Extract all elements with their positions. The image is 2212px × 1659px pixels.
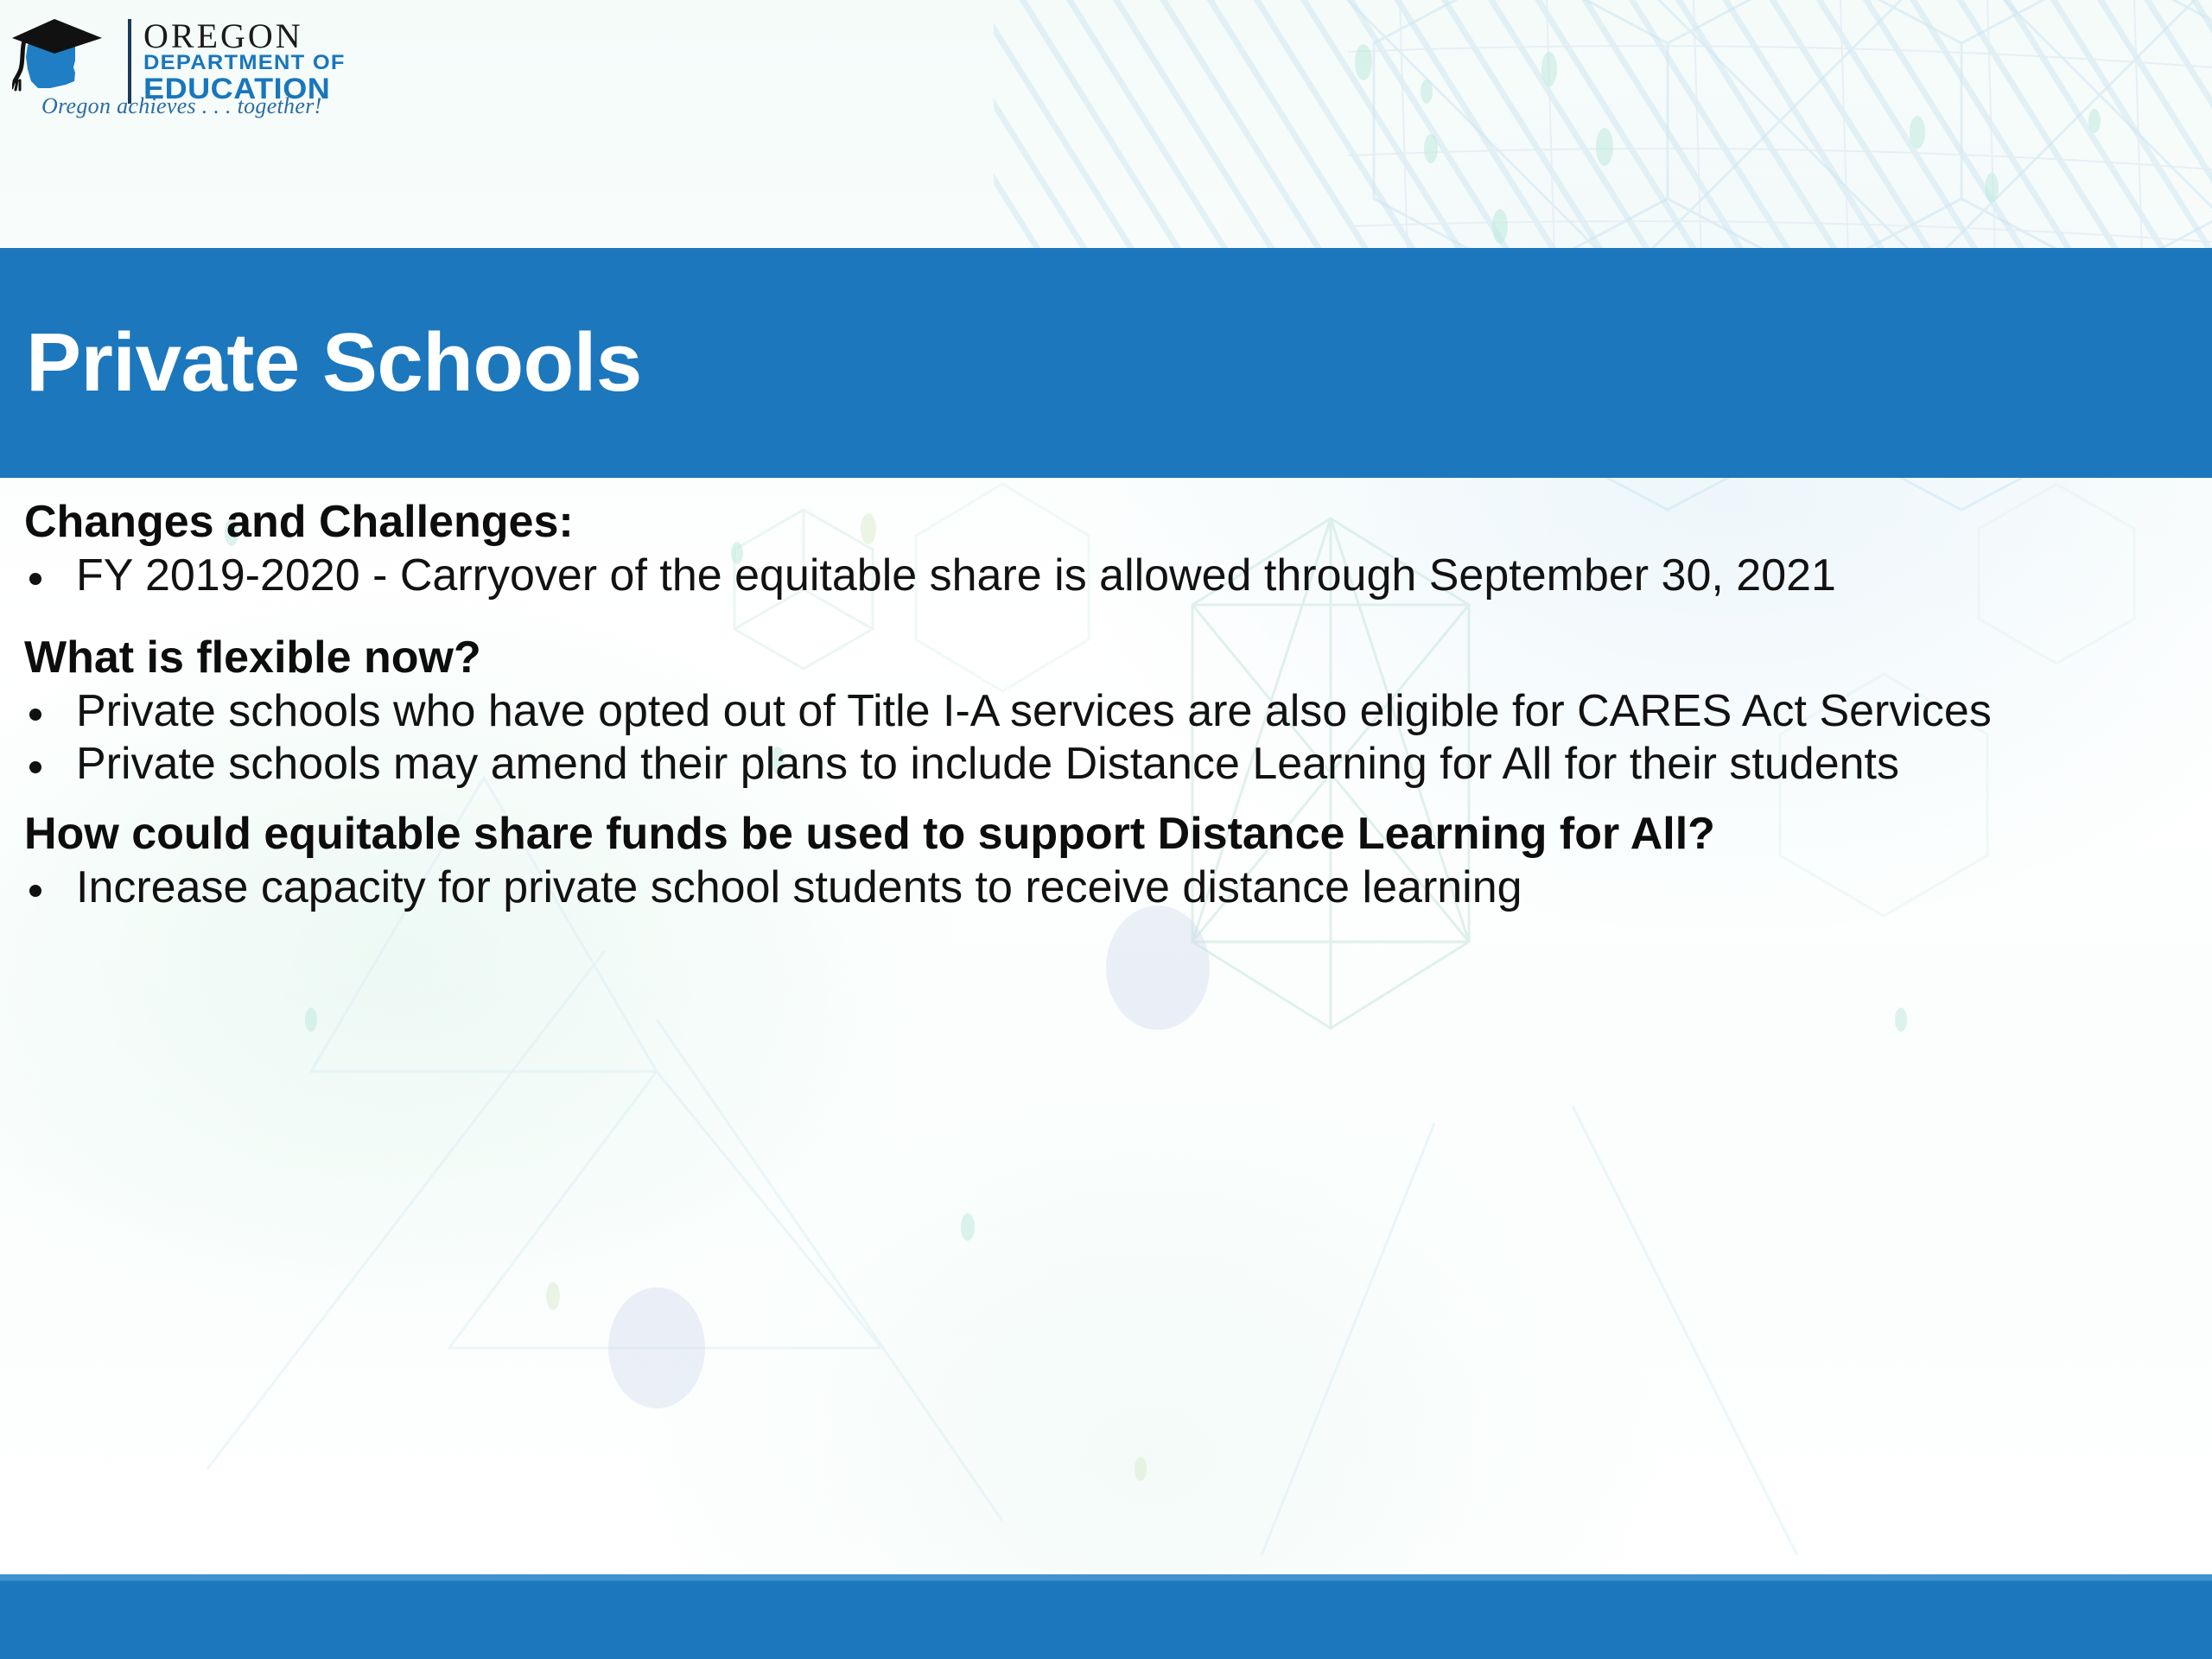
bullet-list: Increase capacity for private school stu… xyxy=(24,862,2186,913)
content-section-changes-and-challenges: Changes and Challenges: FY 2019-2020 - C… xyxy=(24,497,2186,601)
section-heading: How could equitable share funds be used … xyxy=(24,809,2133,859)
background-diagonal-stripes xyxy=(994,0,2212,259)
content-section-what-is-flexible-now: What is flexible now? Private schools wh… xyxy=(24,632,2186,790)
slide-body: Changes and Challenges: FY 2019-2020 - C… xyxy=(0,497,2212,1568)
section-spacer xyxy=(24,791,2186,809)
slide-title: Private Schools xyxy=(26,321,642,404)
slide-title-band: Private Schools xyxy=(0,248,2212,478)
logo-line-department-of: DEPARTMENT OF xyxy=(143,53,346,73)
list-item: Increase capacity for private school stu… xyxy=(24,862,2186,913)
logo-tagline: Oregon achieves . . . together! xyxy=(41,93,322,119)
slide-footer-band xyxy=(0,1574,2212,1659)
content-section-how-could-equitable-share-funds-be-used: How could equitable share funds be used … xyxy=(24,809,2186,913)
oregon-department-of-education-logo: OREGON DEPARTMENT OF EDUCATION xyxy=(12,19,444,140)
presentation-slide: OREGON DEPARTMENT OF EDUCATION Oregon ac… xyxy=(0,0,2212,1659)
bullet-list: Private schools who have opted out of Ti… xyxy=(24,686,2186,790)
section-spacer xyxy=(24,603,2186,632)
list-item: Private schools who have opted out of Ti… xyxy=(24,686,2186,737)
list-item: Private schools may amend their plans to… xyxy=(24,739,2186,790)
section-heading: Changes and Challenges: xyxy=(24,497,2133,547)
bullet-list: FY 2019-2020 - Carryover of the equitabl… xyxy=(24,550,2186,601)
logo-wordmark: OREGON DEPARTMENT OF EDUCATION xyxy=(128,19,334,104)
list-item: FY 2019-2020 - Carryover of the equitabl… xyxy=(24,550,2186,601)
section-heading: What is flexible now? xyxy=(24,632,2133,683)
logo-line-oregon: OREGON xyxy=(143,19,334,53)
